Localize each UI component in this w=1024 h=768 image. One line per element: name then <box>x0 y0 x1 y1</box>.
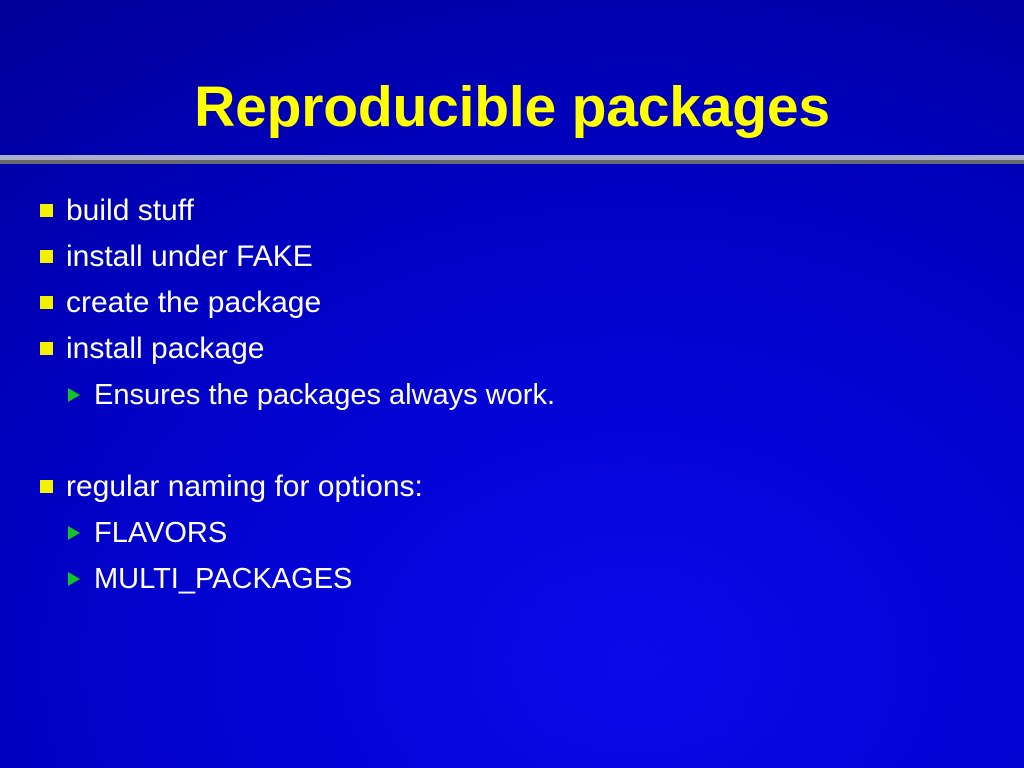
triangle-bullet-icon <box>68 526 80 540</box>
sub-bullet-item: Ensures the packages always work. <box>0 376 1024 422</box>
bullet-item: install package <box>0 330 1024 376</box>
divider-shadow-line <box>0 160 1024 164</box>
bullet-item: regular naming for options: <box>0 468 1024 514</box>
bullet-item: build stuff <box>0 192 1024 238</box>
bullet-spacer <box>0 422 1024 468</box>
bullet-item: install under FAKE <box>0 238 1024 284</box>
sub-bullet-item: MULTI_PACKAGES <box>0 560 1024 606</box>
bullet-label: install package <box>66 330 264 368</box>
square-bullet-icon <box>40 342 53 355</box>
presentation-slide: Reproducible packages build stuff instal… <box>0 0 1024 768</box>
sub-bullet-label: Ensures the packages always work. <box>94 376 555 414</box>
square-bullet-icon <box>40 204 53 217</box>
bullet-label: install under FAKE <box>66 238 313 276</box>
sub-bullet-label: MULTI_PACKAGES <box>94 560 352 598</box>
title-divider <box>0 155 1024 164</box>
square-bullet-icon <box>40 250 53 263</box>
bullet-label: create the package <box>66 284 321 322</box>
slide-title-area: Reproducible packages <box>0 0 1024 155</box>
sub-bullet-item: FLAVORS <box>0 514 1024 560</box>
triangle-bullet-icon <box>68 388 80 402</box>
slide-body-list: build stuff install under FAKE create th… <box>0 192 1024 606</box>
bullet-label: regular naming for options: <box>66 468 423 506</box>
slide-title: Reproducible packages <box>0 74 1024 140</box>
square-bullet-icon <box>40 480 53 493</box>
bullet-label: build stuff <box>66 192 194 230</box>
bullet-item: create the package <box>0 284 1024 330</box>
square-bullet-icon <box>40 296 53 309</box>
sub-bullet-label: FLAVORS <box>94 514 227 552</box>
triangle-bullet-icon <box>68 572 80 586</box>
